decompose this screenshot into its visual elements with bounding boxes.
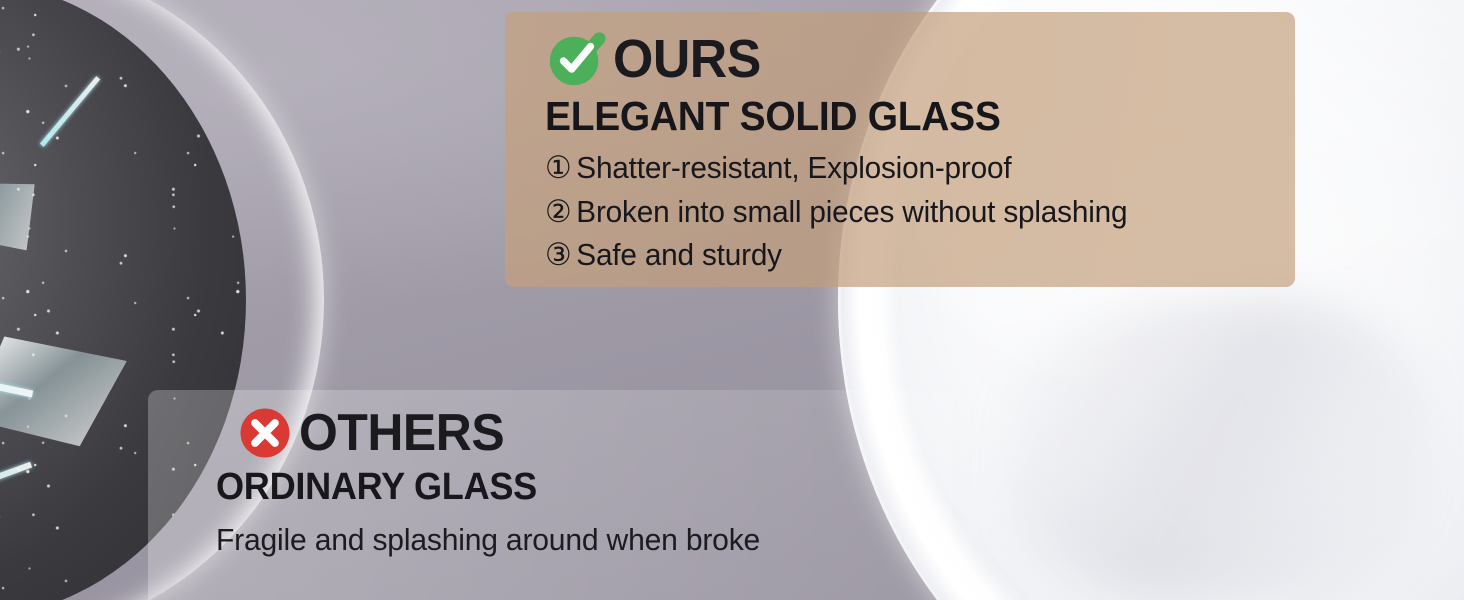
red-x-circle-icon	[236, 404, 294, 462]
white-bowl-shadow	[1010, 300, 1430, 600]
ours-feature-list: ①Shatter-resistant, Explosion-proof ②Bro…	[545, 146, 1295, 276]
ours-panel: OURS ELEGANT SOLID GLASS ①Shatter-resist…	[505, 12, 1295, 287]
ours-feature-marker: ①	[545, 150, 571, 185]
ours-feature-item: ①Shatter-resistant, Explosion-proof	[545, 146, 1265, 189]
ours-feature-marker: ②	[545, 194, 571, 229]
ours-feature-item: ②Broken into small pieces without splash…	[545, 190, 1265, 233]
green-check-circle-icon	[545, 28, 607, 90]
ours-title-row: OURS	[545, 26, 1295, 92]
ours-feature-text: Broken into small pieces without splashi…	[576, 194, 1127, 229]
ours-subtitle: ELEGANT SOLID GLASS	[545, 94, 1258, 138]
ours-feature-marker: ③	[545, 237, 571, 272]
ours-feature-item: ③Safe and sturdy	[545, 233, 1265, 276]
others-subtitle: ORDINARY GLASS	[216, 467, 916, 509]
others-panel: OTHERS ORDINARY GLASS Fragile and splash…	[148, 390, 953, 600]
others-title: OTHERS	[299, 407, 504, 459]
infographic-canvas: OURS ELEGANT SOLID GLASS ①Shatter-resist…	[0, 0, 1464, 600]
ours-feature-text: Safe and sturdy	[576, 237, 782, 272]
ours-feature-text: Shatter-resistant, Explosion-proof	[576, 150, 1011, 185]
ours-title: OURS	[613, 32, 761, 86]
others-title-row: OTHERS	[236, 402, 953, 464]
others-panel-content: OTHERS ORDINARY GLASS Fragile and splash…	[148, 390, 953, 560]
others-description: Fragile and splashing around when broke	[216, 521, 931, 560]
ours-panel-content: OURS ELEGANT SOLID GLASS ①Shatter-resist…	[505, 12, 1295, 276]
